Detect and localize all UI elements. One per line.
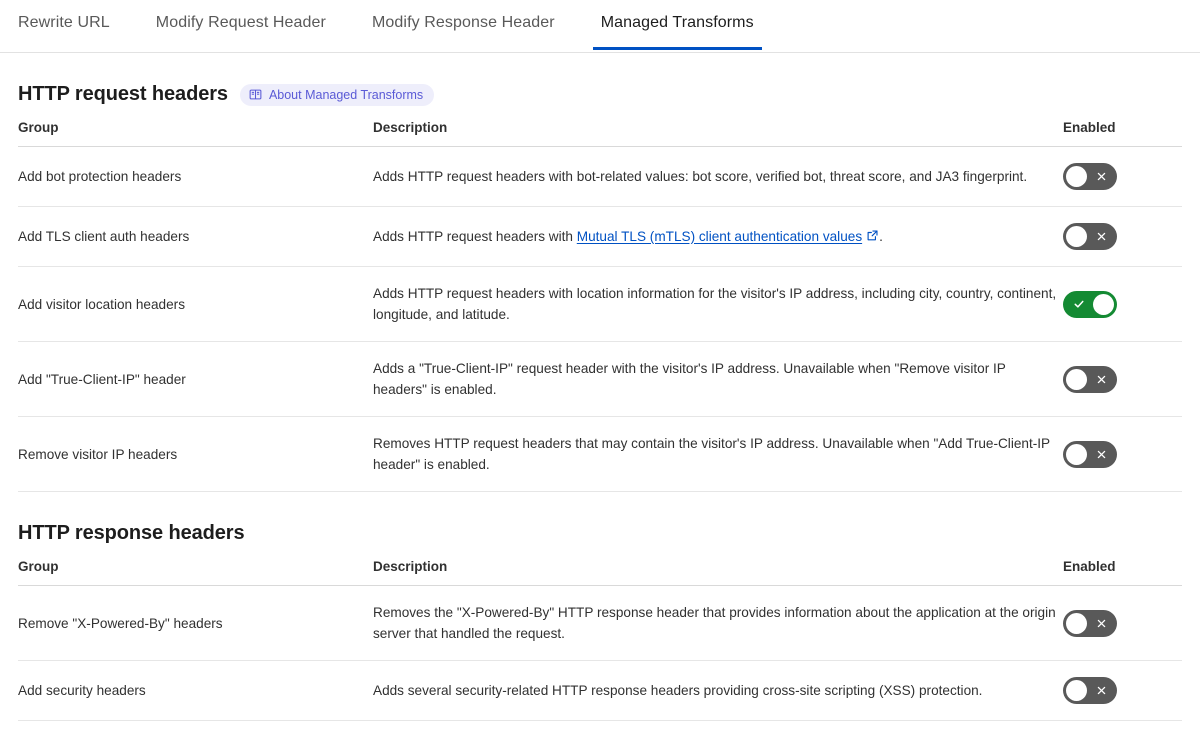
row-description: Adds HTTP request headers with location …: [373, 267, 1063, 342]
table-row: Remove "X-Powered-By" headersRemoves the…: [18, 586, 1182, 661]
column-header-group: Group: [18, 559, 373, 586]
row-description: Adds a "True-Client-IP" request header w…: [373, 342, 1063, 417]
section-header: HTTP response headers: [18, 522, 1182, 545]
row-group-name: Remove "X-Powered-By" headers: [18, 586, 373, 661]
toggle-knob: [1066, 613, 1087, 634]
table-row: Add "True-Client-IP" headerAdds a "True-…: [18, 342, 1182, 417]
column-header-enabled: Enabled: [1063, 120, 1182, 147]
close-icon: [1094, 677, 1108, 704]
row-enabled-cell: [1063, 342, 1182, 417]
table-row: Remove visitor IP headersRemoves HTTP re…: [18, 417, 1182, 492]
tab-rewrite-url[interactable]: Rewrite URL: [18, 0, 110, 49]
close-icon: [1094, 366, 1108, 393]
tab-managed-transforms[interactable]: Managed Transforms: [601, 0, 754, 49]
toggle-knob: [1093, 294, 1114, 315]
table-row: Add visitor location headersAdds HTTP re…: [18, 267, 1182, 342]
row-enabled-cell: [1063, 147, 1182, 207]
row-description: Adds HTTP request headers with bot-relat…: [373, 147, 1063, 207]
enabled-toggle[interactable]: [1063, 223, 1117, 250]
column-header-description: Description: [373, 120, 1063, 147]
mtls-documentation-link[interactable]: Mutual TLS (mTLS) client authentication …: [577, 229, 862, 244]
column-header-description: Description: [373, 559, 1063, 586]
table-row: Add bot protection headersAdds HTTP requ…: [18, 147, 1182, 207]
close-icon: [1094, 441, 1108, 468]
row-description: Adds HTTP request headers with Mutual TL…: [373, 207, 1063, 267]
toggle-knob: [1066, 369, 1087, 390]
table-row: Add TLS client auth headersAdds HTTP req…: [18, 207, 1182, 267]
book-icon: [249, 88, 262, 101]
toggle-knob: [1066, 444, 1087, 465]
section-title: HTTP response headers: [18, 522, 245, 545]
section-header: HTTP request headersAbout Managed Transf…: [18, 83, 1182, 106]
row-group-name: Add security headers: [18, 661, 373, 721]
row-description: Removes HTTP request headers that may co…: [373, 417, 1063, 492]
enabled-toggle[interactable]: [1063, 291, 1117, 318]
row-enabled-cell: [1063, 661, 1182, 721]
managed-transforms-table: GroupDescriptionEnabledAdd bot protectio…: [18, 120, 1182, 492]
sections-root: HTTP request headersAbout Managed Transf…: [0, 83, 1200, 721]
row-group-name: Remove visitor IP headers: [18, 417, 373, 492]
table-header-row: GroupDescriptionEnabled: [18, 120, 1182, 147]
row-group-name: Add "True-Client-IP" header: [18, 342, 373, 417]
external-link-icon[interactable]: [866, 227, 879, 248]
description-text-before: Adds HTTP request headers with: [373, 229, 577, 244]
row-enabled-cell: [1063, 207, 1182, 267]
section-http-request-headers: HTTP request headersAbout Managed Transf…: [0, 83, 1200, 492]
enabled-toggle[interactable]: [1063, 441, 1117, 468]
enabled-toggle[interactable]: [1063, 677, 1117, 704]
row-description: Removes the "X-Powered-By" HTTP response…: [373, 586, 1063, 661]
close-icon: [1094, 610, 1108, 637]
row-enabled-cell: [1063, 417, 1182, 492]
column-header-group: Group: [18, 120, 373, 147]
description-text-after: .: [879, 229, 883, 244]
toggle-knob: [1066, 680, 1087, 701]
section-http-response-headers: HTTP response headersGroupDescriptionEna…: [0, 522, 1200, 721]
toggle-knob: [1066, 226, 1087, 247]
table-row: Add security headersAdds several securit…: [18, 661, 1182, 721]
close-icon: [1094, 163, 1108, 190]
tab-modify-request-header[interactable]: Modify Request Header: [156, 0, 326, 49]
enabled-toggle[interactable]: [1063, 610, 1117, 637]
column-header-enabled: Enabled: [1063, 559, 1182, 586]
row-enabled-cell: [1063, 586, 1182, 661]
row-description: Adds several security-related HTTP respo…: [373, 661, 1063, 721]
transform-rules-tabbar: Rewrite URLModify Request HeaderModify R…: [0, 0, 1200, 53]
check-icon: [1072, 291, 1086, 318]
enabled-toggle[interactable]: [1063, 366, 1117, 393]
row-enabled-cell: [1063, 267, 1182, 342]
section-title: HTTP request headers: [18, 83, 228, 106]
about-managed-transforms-button[interactable]: About Managed Transforms: [240, 84, 434, 106]
close-icon: [1094, 223, 1108, 250]
toggle-knob: [1066, 166, 1087, 187]
about-pill-label: About Managed Transforms: [269, 88, 423, 102]
row-group-name: Add visitor location headers: [18, 267, 373, 342]
table-header-row: GroupDescriptionEnabled: [18, 559, 1182, 586]
tab-modify-response-header[interactable]: Modify Response Header: [372, 0, 555, 49]
enabled-toggle[interactable]: [1063, 163, 1117, 190]
managed-transforms-table: GroupDescriptionEnabledRemove "X-Powered…: [18, 559, 1182, 721]
row-group-name: Add TLS client auth headers: [18, 207, 373, 267]
row-group-name: Add bot protection headers: [18, 147, 373, 207]
